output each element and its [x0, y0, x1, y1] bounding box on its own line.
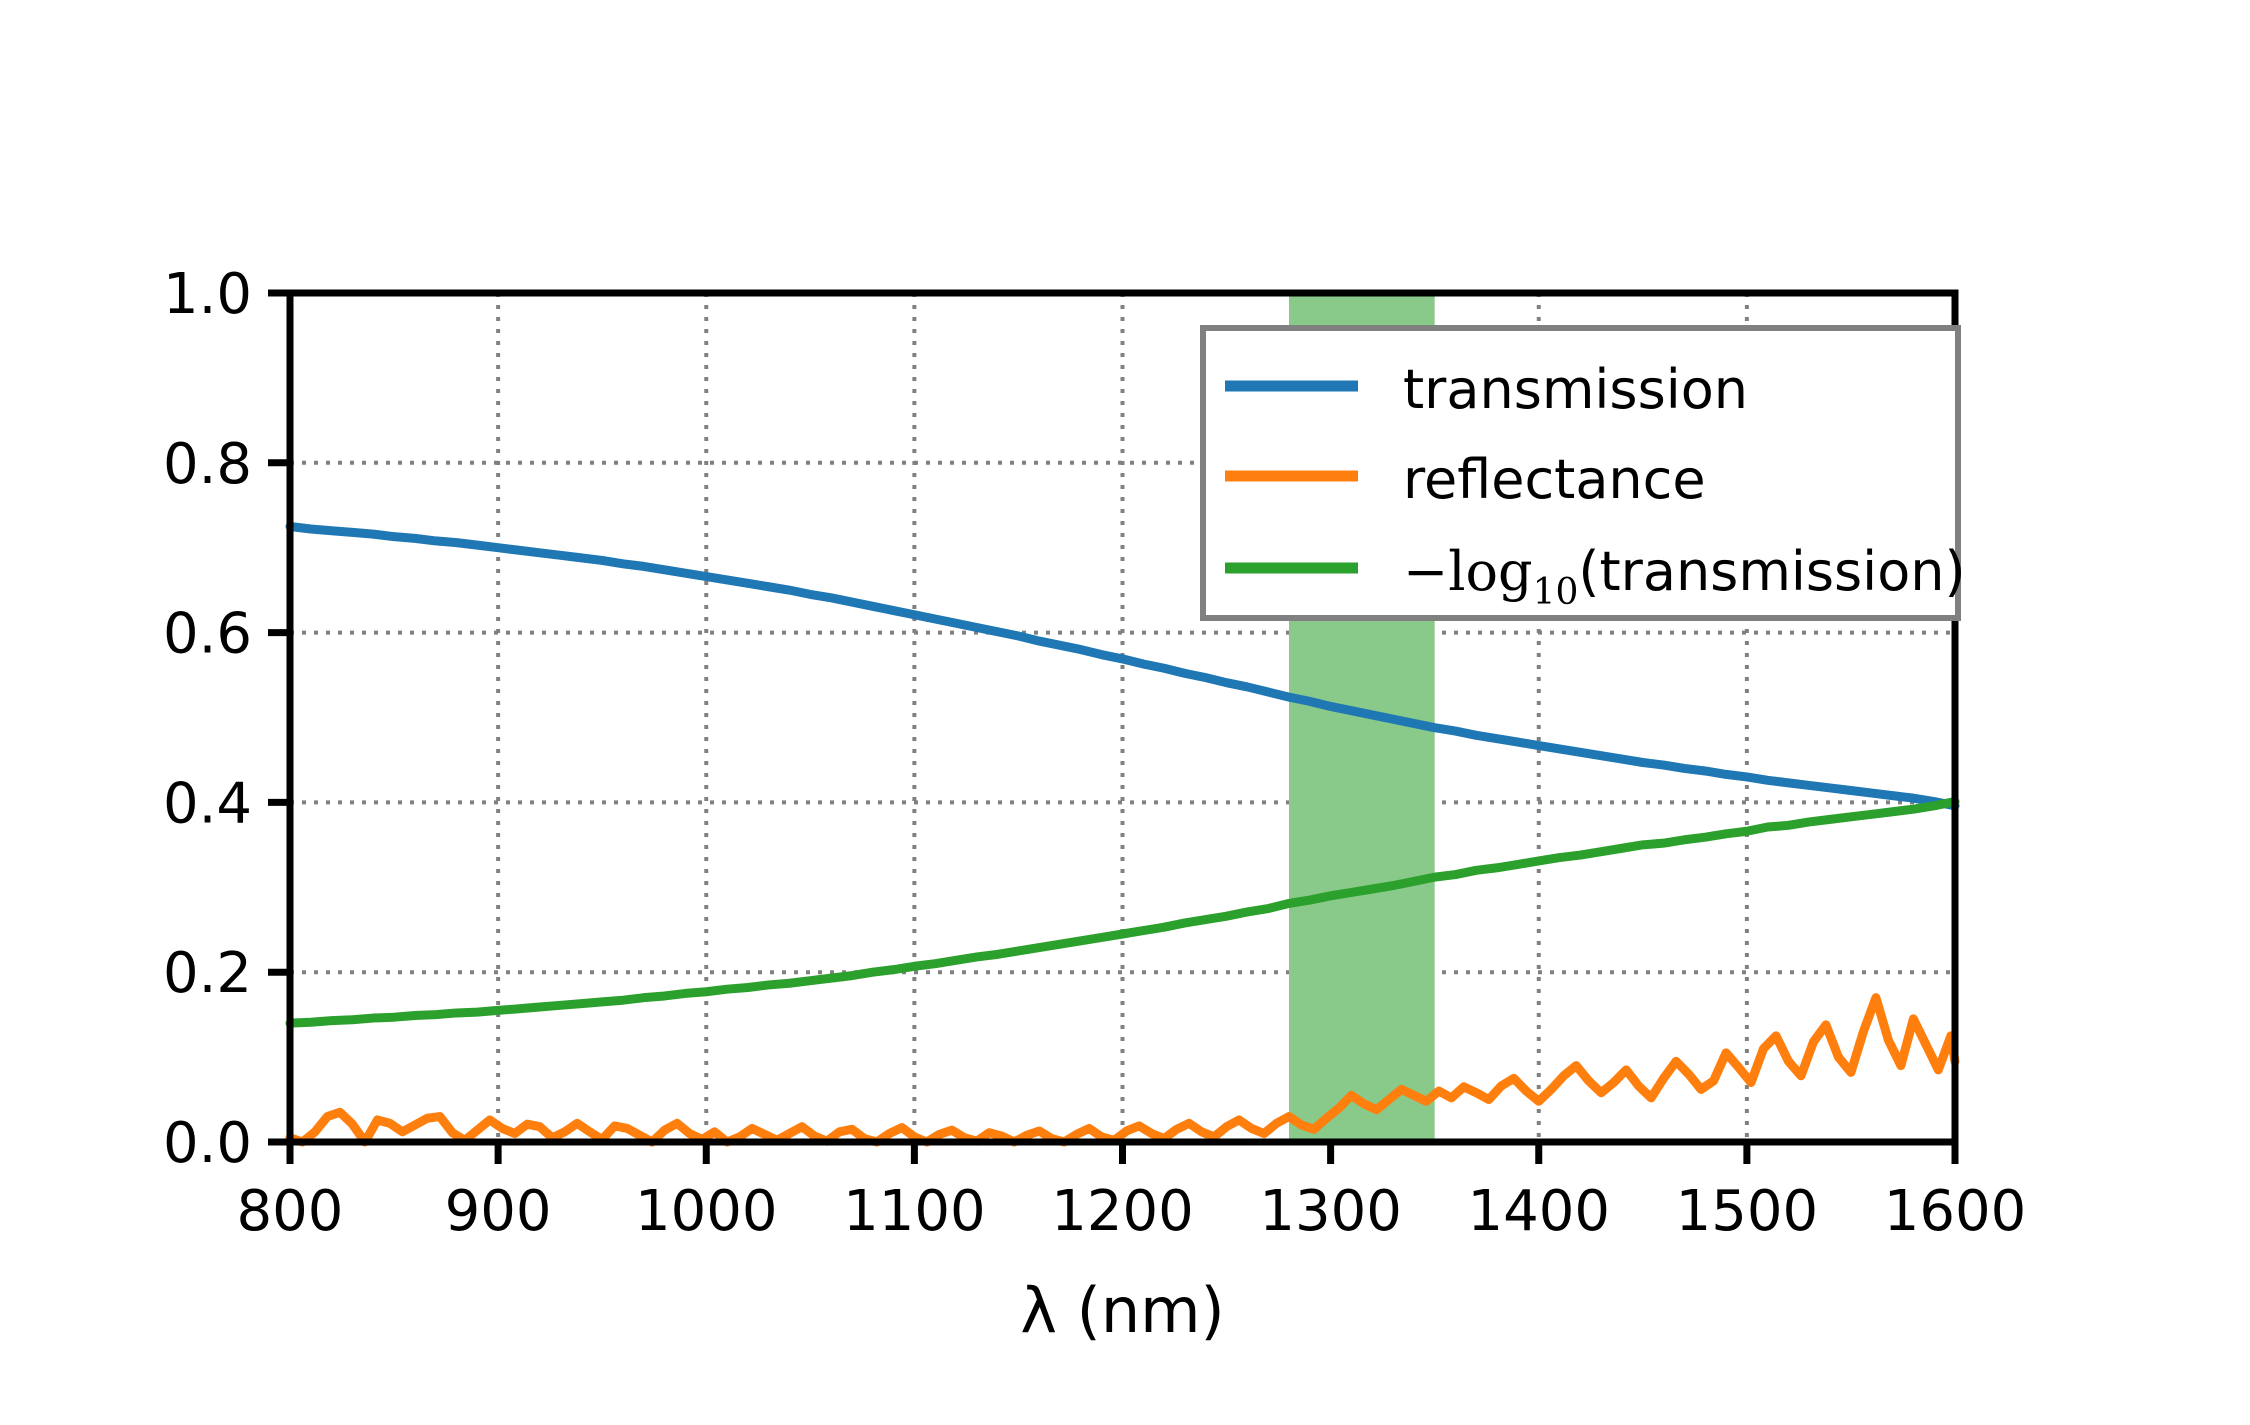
y-tick-label: 0.4 [163, 771, 252, 836]
x-tick-label: 900 [445, 1179, 552, 1244]
line-chart-svg: 8009001000110012001300140015001600 0.00.… [0, 0, 2250, 1425]
figure-page: 8009001000110012001300140015001600 0.00.… [0, 0, 2250, 1425]
x-tick-label: 1300 [1259, 1179, 1402, 1244]
y-tick-label: 1.0 [163, 262, 252, 327]
y-tick-label: 0.8 [163, 432, 252, 497]
x-axis-label: λ (nm) [1020, 1274, 1224, 1347]
x-tick-label: 1000 [635, 1179, 778, 1244]
x-tick-label: 1100 [843, 1179, 986, 1244]
y-tick-label: 0.6 [163, 602, 252, 667]
y-tick-label: 0.0 [163, 1111, 252, 1176]
chart-figure: 8009001000110012001300140015001600 0.00.… [0, 0, 2250, 1425]
x-tick-label: 1600 [1884, 1179, 2027, 1244]
legend-label-1: reflectance [1403, 448, 1706, 511]
x-tick-label: 1200 [1051, 1179, 1194, 1244]
x-tick-label: 800 [237, 1179, 344, 1244]
legend-label-2: −log10(transmission) [1403, 540, 1966, 613]
x-tick-label: 1400 [1467, 1179, 1610, 1244]
chart-legend: transmissionreflectance−log10(transmissi… [1203, 328, 1966, 618]
legend-label-0: transmission [1403, 358, 1748, 421]
y-tick-label: 0.2 [163, 941, 252, 1006]
x-tick-label: 1500 [1676, 1179, 1819, 1244]
x-tick-labels: 8009001000110012001300140015001600 [237, 1179, 2027, 1244]
x-axis-title: λ (nm) [1020, 1274, 1224, 1347]
